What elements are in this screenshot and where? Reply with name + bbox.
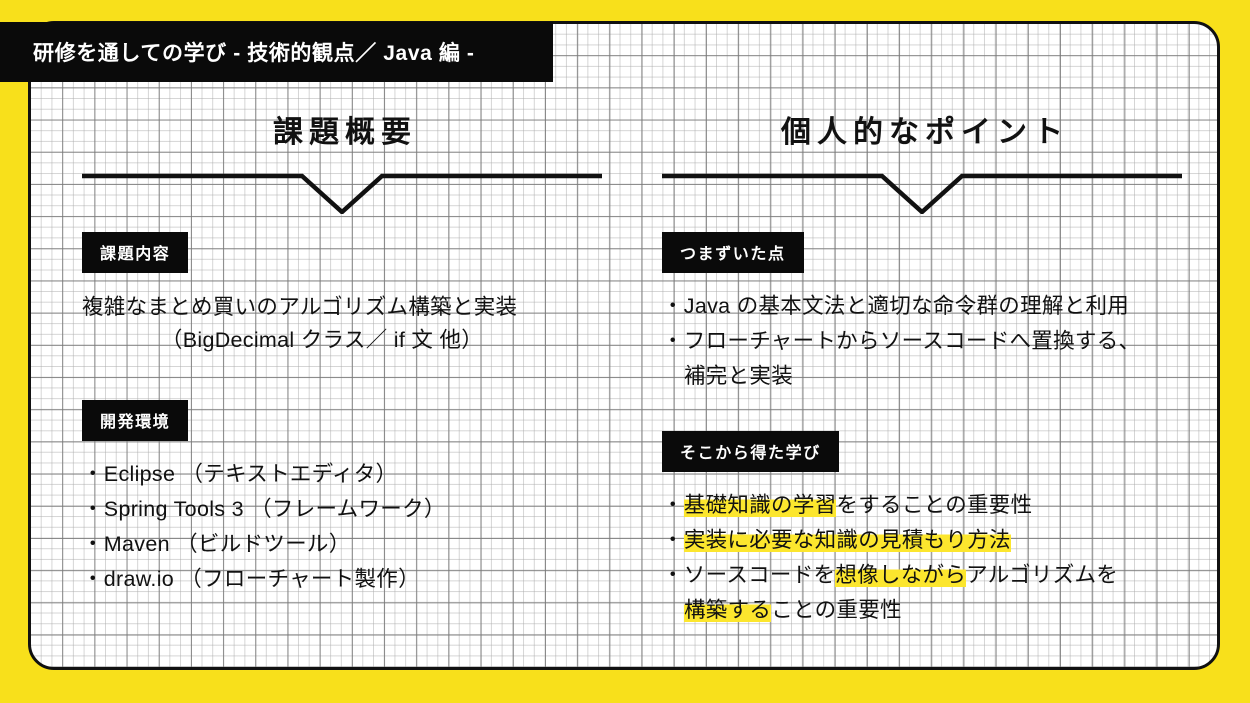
right-column-heading: 個人的なポイント [662, 118, 1182, 148]
list-item-line: ・フローチャートからソースコードへ置換する、 [662, 329, 1140, 353]
highlighted-text: 実装に必要な知識の見積もり方法 [684, 528, 1011, 552]
highlighted-text: 想像しながら [835, 563, 966, 587]
left-section-assignment: 課題内容 複雑なまとめ買いのアルゴリズム構築と実装 （BigDecimal クラ… [82, 214, 602, 356]
title-banner: 研修を通しての学び - 技術的観点／ Java 編 - [0, 22, 553, 82]
list-item-bullet: ・ [662, 528, 684, 552]
struggles-list: ・Java の基本文法と適切な命令群の理解と利用 ・フローチャートからソースコー… [662, 289, 1182, 393]
learnings-list: ・基礎知識の学習をすることの重要性 ・実装に必要な知識の見積もり方法 ・ソースコ… [662, 488, 1182, 627]
list-item: ・実装に必要な知識の見積もり方法 [662, 523, 1182, 558]
highlighted-text: 構築する [684, 598, 771, 622]
assignment-line-1: 複雑なまとめ買いのアルゴリズム構築と実装 [82, 291, 602, 324]
left-divider-notch [82, 168, 602, 214]
list-item: ・Spring Tools 3 （フレームワーク） [82, 492, 602, 527]
dev-environment-list: ・Eclipse （テキストエディタ） ・Spring Tools 3 （フレー… [82, 457, 602, 596]
list-item: ・基礎知識の学習をすることの重要性 [662, 488, 1182, 523]
list-item-bullet: ・ソースコードを [662, 563, 835, 587]
list-item-text: ことの重要性 [771, 598, 902, 622]
right-section-struggles: つまずいた点 ・Java の基本文法と適切な命令群の理解と利用 ・フローチャート… [662, 214, 1182, 393]
list-item: ・Eclipse （テキストエディタ） [82, 457, 602, 492]
badge-assignment-content: 課題内容 [82, 232, 188, 273]
slide-root: 研修を通しての学び - 技術的観点／ Java 編 - 課題概要 課題内容 複雑… [0, 0, 1250, 703]
left-column: 課題概要 課題内容 複雑なまとめ買いのアルゴリズム構築と実装 （BigDecim… [82, 118, 602, 597]
assignment-line-2: （BigDecimal クラス／ if 文 他） [82, 324, 602, 357]
page-title: 研修を通しての学び - 技術的観点／ Java 編 - [0, 37, 474, 67]
list-item: ・ソースコードを想像しながらアルゴリズムを 構築することの重要性 [662, 558, 1182, 628]
right-section-learnings: そこから得た学び ・基礎知識の学習をすることの重要性 ・実装に必要な知識の見積も… [662, 413, 1182, 627]
list-item: ・Maven （ビルドツール） [82, 527, 602, 562]
highlighted-text: 基礎知識の学習 [684, 493, 837, 517]
list-item-line: ・Java の基本文法と適切な命令群の理解と利用 [662, 294, 1129, 318]
right-column: 個人的なポイント つまずいた点 ・Java の基本文法と適切な命令群の理解と利用… [662, 118, 1182, 628]
list-item: ・Java の基本文法と適切な命令群の理解と利用 [662, 289, 1182, 324]
badge-struggles: つまずいた点 [662, 232, 804, 273]
left-column-heading: 課題概要 [82, 118, 602, 148]
list-item-continuation: 補完と実装 [662, 359, 1182, 394]
assignment-body: 複雑なまとめ買いのアルゴリズム構築と実装 （BigDecimal クラス／ if… [82, 291, 602, 356]
right-divider-notch [662, 168, 1182, 214]
list-item: ・draw.io （フローチャート製作） [82, 562, 602, 597]
list-item-text: をすることの重要性 [836, 493, 1032, 517]
list-item-bullet: ・ [662, 493, 684, 517]
list-item: ・フローチャートからソースコードへ置換する、 補完と実装 [662, 324, 1182, 394]
list-item-continuation: 構築することの重要性 [662, 593, 1182, 628]
list-item-text: アルゴリズムを [966, 563, 1118, 587]
badge-dev-environment: 開発環境 [82, 400, 188, 441]
badge-learnings: そこから得た学び [662, 431, 839, 472]
left-section-environment: 開発環境 ・Eclipse （テキストエディタ） ・Spring Tools 3… [82, 382, 602, 596]
